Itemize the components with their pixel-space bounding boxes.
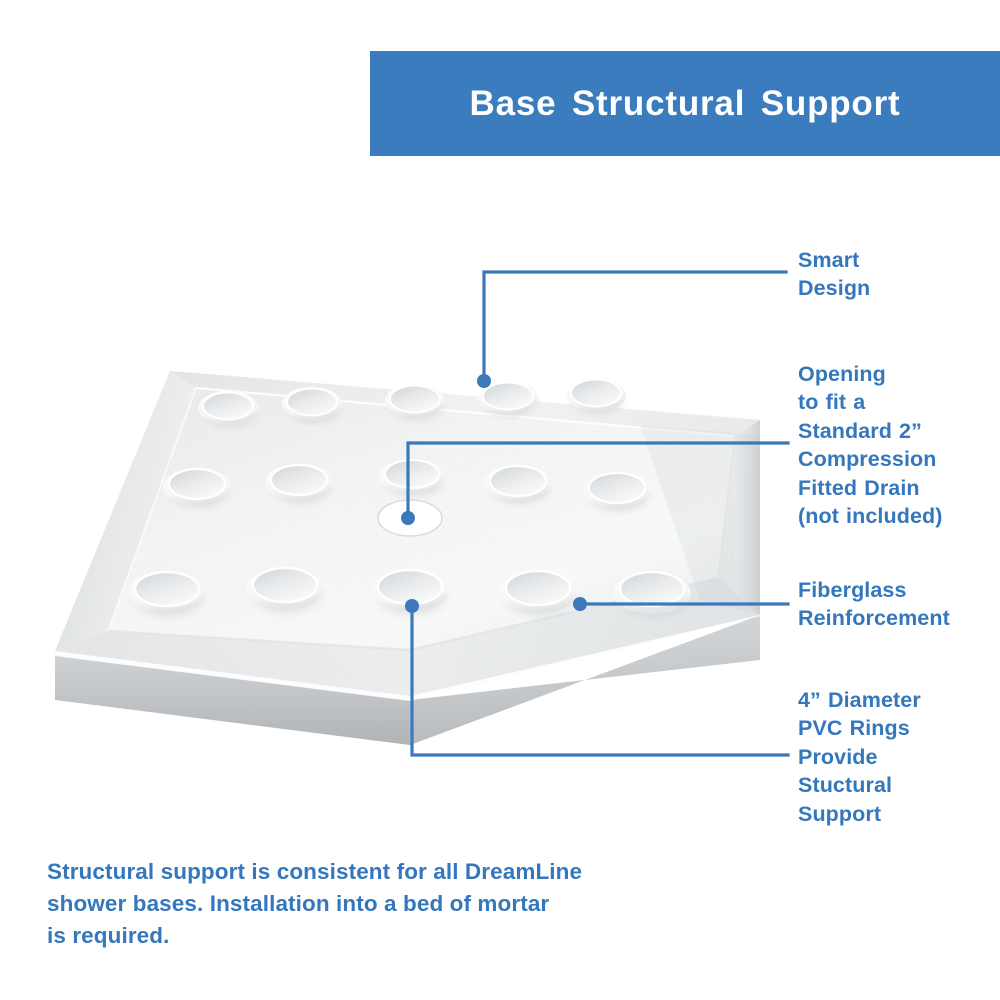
base-deck [55, 371, 760, 696]
deck-rim-left [55, 371, 196, 651]
deck-shade-right [640, 425, 760, 615]
callout-pvc-rings-line2: PVC Rings [798, 714, 998, 742]
base-side-left [55, 655, 410, 745]
deck-rim-bottom [55, 578, 760, 696]
pvc-ring [282, 387, 346, 428]
callout-smart-design-line2: Design [798, 274, 998, 302]
callout-fiberglass-line2: Reinforcement [798, 604, 998, 632]
callout-opening-line1: Opening [798, 360, 1000, 388]
pvc-ring [583, 472, 655, 517]
pvc-ring [484, 465, 556, 510]
callout-opening: Opening to fit a Standard 2” Compression… [798, 360, 1000, 530]
leader-opening [408, 443, 788, 518]
callout-pvc-rings-line1: 4” Diameter [798, 686, 998, 714]
footer-note-line2: shower bases. Installation into a bed of… [47, 888, 687, 920]
deck-pan [108, 388, 735, 650]
pan-edge-top [196, 388, 735, 436]
leader-dot-opening [401, 511, 415, 525]
leader-dot-pvc-rings [405, 599, 419, 613]
page-title: Base Structural Support [470, 86, 901, 121]
pvc-ring [379, 459, 449, 502]
leader-smart-design [484, 272, 786, 381]
drain-opening [378, 500, 442, 536]
pan-edge-left [108, 388, 196, 631]
callout-opening-line3: Standard 2” [798, 417, 1000, 445]
pvc-ring [128, 572, 210, 623]
pvc-ring [265, 464, 337, 509]
base-body [55, 611, 760, 745]
callout-opening-line5: Fitted Drain [798, 474, 1000, 502]
pvc-ring [566, 378, 630, 419]
pvc-ring-group [128, 378, 695, 623]
callout-pvc-rings-line4: Stuctural [798, 771, 998, 799]
leader-dot-smart-design [477, 374, 491, 388]
deck-rim-top [170, 371, 760, 436]
illustration-page: Base Structural Support Smart Design Ope… [0, 0, 1000, 1000]
footer-note: Structural support is consistent for all… [47, 856, 687, 952]
pvc-ring [478, 381, 542, 422]
leader-lines [408, 272, 788, 755]
footer-note-line3: is required. [47, 920, 687, 952]
callout-fiberglass-line1: Fiberglass [798, 576, 998, 604]
callout-smart-design: Smart Design [798, 246, 998, 303]
callout-opening-line4: Compression [798, 445, 1000, 473]
pvc-ring [499, 571, 581, 622]
pan-edge-right [718, 436, 735, 578]
leader-dot-fiberglass [573, 597, 587, 611]
pvc-ring [198, 391, 262, 432]
callout-pvc-rings-line3: Provide [798, 743, 998, 771]
pvc-ring [371, 570, 453, 621]
base-seam [55, 611, 760, 701]
footer-note-line1: Structural support is consistent for all… [47, 856, 687, 888]
pan-edge-bottom [108, 578, 718, 650]
pvc-ring [163, 468, 235, 513]
callout-pvc-rings-line5: Support [798, 800, 998, 828]
leader-dots [401, 374, 587, 613]
pvc-ring [385, 384, 449, 425]
callout-smart-design-line1: Smart [798, 246, 998, 274]
callout-opening-line2: to fit a [798, 388, 1000, 416]
pvc-ring [613, 572, 695, 623]
header-banner: Base Structural Support [370, 51, 1000, 156]
callout-fiberglass: Fiberglass Reinforcement [798, 576, 998, 633]
leader-pvc-rings [412, 606, 788, 755]
base-side-right [410, 615, 760, 745]
callout-pvc-rings: 4” Diameter PVC Rings Provide Stuctural … [798, 686, 998, 828]
pvc-ring [246, 568, 328, 619]
deck-rim-right [735, 420, 760, 615]
callout-opening-line6: (not included) [798, 502, 1000, 530]
deck-surface [55, 371, 760, 696]
